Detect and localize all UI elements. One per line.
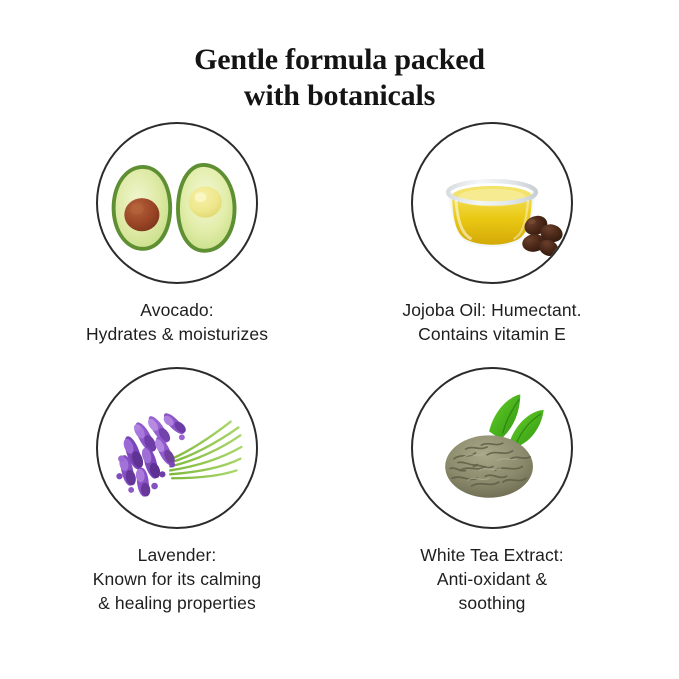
caption-line: Contains vitamin E: [327, 322, 657, 346]
lavender-bunch-image: [98, 369, 256, 527]
page-title-line-2: with botanicals: [0, 78, 679, 114]
ingredient-caption-white-tea: White Tea Extract: Anti-oxidant & soothi…: [327, 543, 657, 615]
caption-line: White Tea Extract:: [327, 543, 657, 567]
caption-line: & healing properties: [12, 591, 342, 615]
dried-tea-pile: [445, 435, 533, 497]
avocado-pit: [124, 198, 159, 231]
ingredients-infographic: Gentle formula packed with botanicals: [0, 0, 679, 679]
caption-line: Avocado:: [12, 298, 342, 322]
ingredient-caption-lavender: Lavender: Known for its calming & healin…: [12, 543, 342, 615]
white-tea-leaves-image: [413, 369, 571, 527]
page-title-line-1: Gentle formula packed: [0, 42, 679, 78]
jojoba-oil-bowl-image: [413, 124, 571, 282]
ingredient-image-circle-jojoba-oil: [411, 122, 573, 284]
caption-line: soothing: [327, 591, 657, 615]
avocado-cavity-highlight: [195, 192, 207, 202]
jojoba-seed-highlight: [528, 219, 536, 224]
caption-line: Anti-oxidant &: [327, 567, 657, 591]
ingredient-caption-avocado: Avocado: Hydrates & moisturizes: [12, 298, 342, 346]
ingredient-card-white-tea: White Tea Extract: Anti-oxidant & soothi…: [327, 363, 657, 615]
ingredient-image-circle-lavender: [96, 367, 258, 529]
lavender-flower-spikes: [116, 410, 188, 498]
caption-line: Known for its calming: [12, 567, 342, 591]
caption-line: Hydrates & moisturizes: [12, 322, 342, 346]
ingredient-image-circle-white-tea: [411, 367, 573, 529]
caption-line: Jojoba Oil: Humectant.: [327, 298, 657, 322]
ingredient-image-circle-avocado: [96, 122, 258, 284]
ingredient-caption-jojoba-oil: Jojoba Oil: Humectant. Contains vitamin …: [327, 298, 657, 346]
avocado-seed-cavity: [189, 186, 222, 217]
ingredient-card-lavender: Lavender: Known for its calming & healin…: [12, 363, 342, 615]
ingredient-card-jojoba-oil: Jojoba Oil: Humectant. Contains vitamin …: [327, 118, 657, 346]
avocado-halves-image: [98, 124, 256, 282]
avocado-pit-highlight: [130, 203, 144, 215]
page-title: Gentle formula packed with botanicals: [0, 42, 679, 114]
caption-line: Lavender:: [12, 543, 342, 567]
ingredient-card-avocado: Avocado: Hydrates & moisturizes: [12, 118, 342, 346]
